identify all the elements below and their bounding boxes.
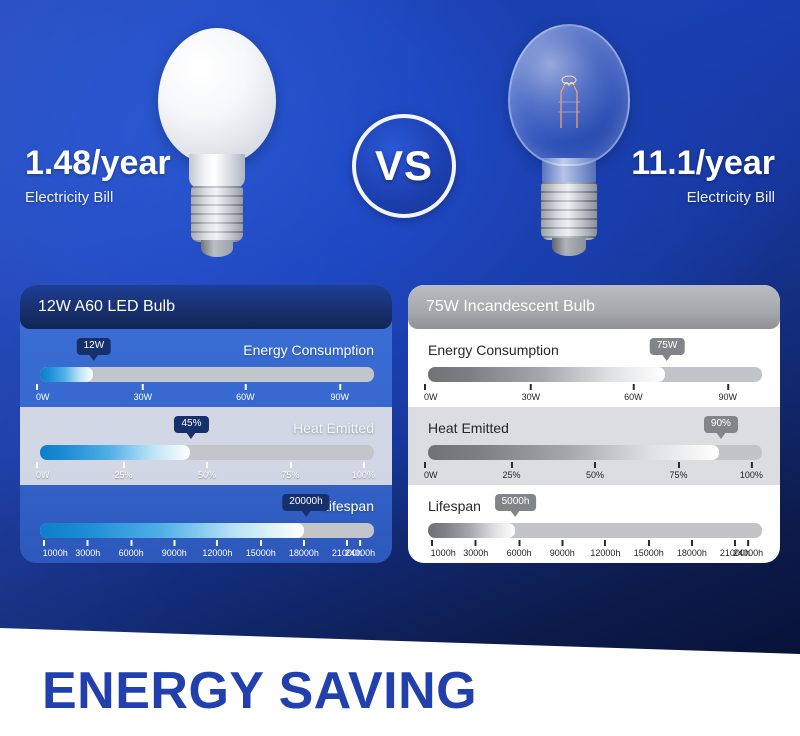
- axis-tick-label: 90W: [719, 392, 738, 402]
- axis-tick-mark: [594, 462, 596, 468]
- metric-label: Heat Emitted: [428, 420, 509, 436]
- led-bill-amount: 1.48/year: [25, 146, 171, 182]
- metric-fill: [428, 367, 665, 382]
- panel-incandescent-bulb: 75W Incandescent Bulb Energy Consumption…: [408, 285, 780, 563]
- axis-tick: 0W: [36, 384, 50, 402]
- axis-tick-label: 1000h: [431, 548, 456, 558]
- axis-tick-label: 18000h: [677, 548, 707, 558]
- axis-tick-mark: [530, 384, 532, 390]
- metric-value-text: 90%: [711, 418, 731, 429]
- axis-tick-label: 75%: [281, 470, 299, 480]
- axis-tick: 90W: [331, 384, 350, 402]
- axis-tick-label: 12000h: [590, 548, 620, 558]
- metric-fill: [40, 445, 190, 460]
- metric-value-callout: 5000h: [495, 494, 537, 511]
- axis-tick: 25%: [502, 462, 520, 480]
- axis-tick: 90W: [719, 384, 738, 402]
- axis-tick: 15000h: [246, 540, 276, 558]
- axis-tick: 12000h: [202, 540, 232, 558]
- metric-value-text: 20000h: [289, 496, 322, 507]
- axis-tick-label: 0W: [36, 470, 50, 480]
- metric-value-callout: 45%: [174, 416, 208, 433]
- axis-tick-label: 15000h: [246, 548, 276, 558]
- metric-track: [428, 523, 762, 538]
- metric-track: [40, 367, 374, 382]
- incandescent-bulb-contact-tip: [552, 238, 586, 256]
- axis-tick-mark: [130, 540, 132, 546]
- axis-tick-label: 25%: [114, 470, 132, 480]
- axis-tick-mark: [36, 462, 38, 468]
- axis-tick-label: 25%: [502, 470, 520, 480]
- led-bulb-screw-base: [191, 186, 243, 242]
- axis-tick: 100%: [740, 462, 763, 480]
- incandescent-bill-caption: Electricity Bill: [631, 189, 775, 206]
- axis-tick-label: 60W: [624, 392, 643, 402]
- axis-tick: 50%: [198, 462, 216, 480]
- axis-tick-label: 75%: [669, 470, 687, 480]
- vs-badge-label: VS: [375, 142, 433, 190]
- axis-tick-label: 3000h: [463, 548, 488, 558]
- metric-row: Heat Emitted90%0W25%50%75%100%: [408, 407, 780, 485]
- axis-tick-label: 6000h: [119, 548, 144, 558]
- infographic-stage: 1.48/year Electricity Bill 11.1/year Ele…: [0, 0, 800, 736]
- axis-tick-mark: [475, 540, 477, 546]
- axis-tick-mark: [260, 540, 262, 546]
- axis-tick: 9000h: [162, 540, 187, 558]
- panel-led-metrics: Energy Consumption12W0W30W60W90WHeat Emi…: [20, 329, 392, 563]
- axis-tick-mark: [359, 540, 361, 546]
- axis-tick-mark: [431, 540, 433, 546]
- axis-tick: 18000h: [677, 540, 707, 558]
- metric-value-callout: 12W: [77, 338, 112, 355]
- panel-incandescent-metrics: Energy Consumption75W0W30W60W90WHeat Emi…: [408, 329, 780, 563]
- axis-tick-label: 90W: [331, 392, 350, 402]
- axis-tick-label: 60W: [236, 392, 255, 402]
- axis-tick: 60W: [624, 384, 643, 402]
- axis-tick-label: 30W: [134, 392, 153, 402]
- led-electricity-bill-block: 1.48/year Electricity Bill: [25, 146, 171, 206]
- axis-tick-label: 100%: [352, 470, 375, 480]
- axis-tick-mark: [424, 462, 426, 468]
- axis-tick-label: 100%: [740, 470, 763, 480]
- filament-icon: [544, 66, 594, 128]
- axis-tick-label: 50%: [198, 470, 216, 480]
- metric-label: Lifespan: [428, 498, 481, 514]
- metric-label: Energy Consumption: [428, 342, 559, 358]
- axis-tick: 0W: [424, 384, 438, 402]
- axis-tick: 0W: [36, 462, 50, 480]
- axis-tick-label: 18000h: [289, 548, 319, 558]
- axis-tick-mark: [216, 540, 218, 546]
- axis-tick: 3000h: [75, 540, 100, 558]
- axis-tick: 6000h: [119, 540, 144, 558]
- axis-tick-label: 9000h: [162, 548, 187, 558]
- led-bulb-contact-tip: [201, 240, 233, 257]
- axis-tick: 12000h: [590, 540, 620, 558]
- axis-tick: 60W: [236, 384, 255, 402]
- panel-led-title: 12W A60 LED Bulb: [20, 285, 392, 329]
- axis-tick-label: 6000h: [507, 548, 532, 558]
- metric-value-text: 12W: [84, 340, 105, 351]
- incandescent-bulb-illustration: [508, 24, 630, 262]
- metric-label: Heat Emitted: [293, 420, 374, 436]
- axis-tick-mark: [303, 540, 305, 546]
- metric-fill: [40, 367, 93, 382]
- metric-tick-axis: 0W25%50%75%100%: [428, 462, 762, 484]
- axis-tick: 9000h: [550, 540, 575, 558]
- axis-tick-mark: [206, 462, 208, 468]
- metric-value-callout: 20000h: [282, 494, 329, 511]
- metric-track: [40, 523, 374, 538]
- metric-value-callout: 90%: [704, 416, 738, 433]
- metric-row: Lifespan20000h1000h3000h6000h9000h12000h…: [20, 485, 392, 563]
- metric-tick-axis: 0W30W60W90W: [428, 384, 762, 406]
- axis-tick-label: 24000h: [345, 548, 375, 558]
- axis-tick: 1000h: [43, 540, 68, 558]
- metric-value-text: 5000h: [502, 496, 530, 507]
- metric-track: [428, 445, 762, 460]
- metric-value-text: 75W: [657, 340, 678, 351]
- metric-value-text: 45%: [181, 418, 201, 429]
- axis-tick: 30W: [522, 384, 541, 402]
- axis-tick-mark: [43, 540, 45, 546]
- axis-tick-label: 9000h: [550, 548, 575, 558]
- axis-tick: 100%: [352, 462, 375, 480]
- metric-row: Energy Consumption12W0W30W60W90W: [20, 329, 392, 407]
- axis-tick: 24000h: [733, 540, 763, 558]
- axis-tick-label: 12000h: [202, 548, 232, 558]
- metric-tick-axis: 0W30W60W90W: [40, 384, 374, 406]
- axis-tick: 30W: [134, 384, 153, 402]
- axis-tick-mark: [36, 384, 38, 390]
- vs-badge: VS: [352, 114, 456, 218]
- metric-row: Heat Emitted45%0W25%50%75%100%: [20, 407, 392, 485]
- metric-fill: [40, 523, 304, 538]
- metric-value-callout: 75W: [650, 338, 685, 355]
- axis-tick-mark: [142, 384, 144, 390]
- axis-tick: 24000h: [345, 540, 375, 558]
- axis-tick-mark: [173, 540, 175, 546]
- axis-tick-mark: [510, 462, 512, 468]
- axis-tick: 25%: [114, 462, 132, 480]
- axis-tick-mark: [518, 540, 520, 546]
- axis-tick-label: 0W: [424, 392, 438, 402]
- metric-tick-axis: 1000h3000h6000h9000h12000h15000h18000h21…: [40, 540, 374, 562]
- axis-tick-label: 0W: [36, 392, 50, 402]
- axis-tick-mark: [750, 462, 752, 468]
- axis-tick: 1000h: [431, 540, 456, 558]
- axis-tick-label: 0W: [424, 470, 438, 480]
- axis-tick-mark: [561, 540, 563, 546]
- axis-tick-label: 24000h: [733, 548, 763, 558]
- axis-tick: 3000h: [463, 540, 488, 558]
- incandescent-bulb-screw-base: [541, 182, 597, 240]
- led-bulb-globe: [158, 28, 276, 164]
- axis-tick-label: 30W: [522, 392, 541, 402]
- led-bill-caption: Electricity Bill: [25, 189, 171, 206]
- axis-tick-label: 50%: [586, 470, 604, 480]
- axis-tick-label: 3000h: [75, 548, 100, 558]
- incandescent-electricity-bill-block: 11.1/year Electricity Bill: [631, 146, 775, 206]
- axis-tick-mark: [244, 384, 246, 390]
- metric-track: [428, 367, 762, 382]
- axis-tick: 6000h: [507, 540, 532, 558]
- metric-tick-axis: 0W25%50%75%100%: [40, 462, 374, 484]
- axis-tick-mark: [87, 540, 89, 546]
- led-bulb-neck: [189, 154, 245, 188]
- led-bulb-illustration: [158, 28, 276, 260]
- axis-tick: 0W: [424, 462, 438, 480]
- axis-tick-label: 15000h: [634, 548, 664, 558]
- axis-tick-mark: [122, 462, 124, 468]
- axis-tick: 18000h: [289, 540, 319, 558]
- metric-label: Energy Consumption: [243, 342, 374, 358]
- axis-tick-mark: [747, 540, 749, 546]
- incandescent-bill-amount: 11.1/year: [631, 146, 775, 182]
- panel-incandescent-title: 75W Incandescent Bulb: [408, 285, 780, 329]
- metric-track: [40, 445, 374, 460]
- metric-row: Energy Consumption75W0W30W60W90W: [408, 329, 780, 407]
- axis-tick-mark: [677, 462, 679, 468]
- axis-tick: 50%: [586, 462, 604, 480]
- axis-tick-label: 1000h: [43, 548, 68, 558]
- axis-tick-mark: [604, 540, 606, 546]
- axis-tick-mark: [648, 540, 650, 546]
- panel-led-bulb: 12W A60 LED Bulb Energy Consumption12W0W…: [20, 285, 392, 563]
- axis-tick-mark: [339, 384, 341, 390]
- axis-tick-mark: [424, 384, 426, 390]
- metric-fill: [428, 523, 515, 538]
- axis-tick-mark: [362, 462, 364, 468]
- metric-fill: [428, 445, 719, 460]
- metric-row: Lifespan5000h1000h3000h6000h9000h12000h1…: [408, 485, 780, 563]
- metric-tick-axis: 1000h3000h6000h9000h12000h15000h18000h21…: [428, 540, 762, 562]
- axis-tick: 75%: [669, 462, 687, 480]
- axis-tick-mark: [727, 384, 729, 390]
- axis-tick: 75%: [281, 462, 299, 480]
- axis-tick-mark: [691, 540, 693, 546]
- axis-tick: 15000h: [634, 540, 664, 558]
- axis-tick-mark: [632, 384, 634, 390]
- page-title: ENERGY SAVING: [42, 661, 477, 721]
- axis-tick-mark: [289, 462, 291, 468]
